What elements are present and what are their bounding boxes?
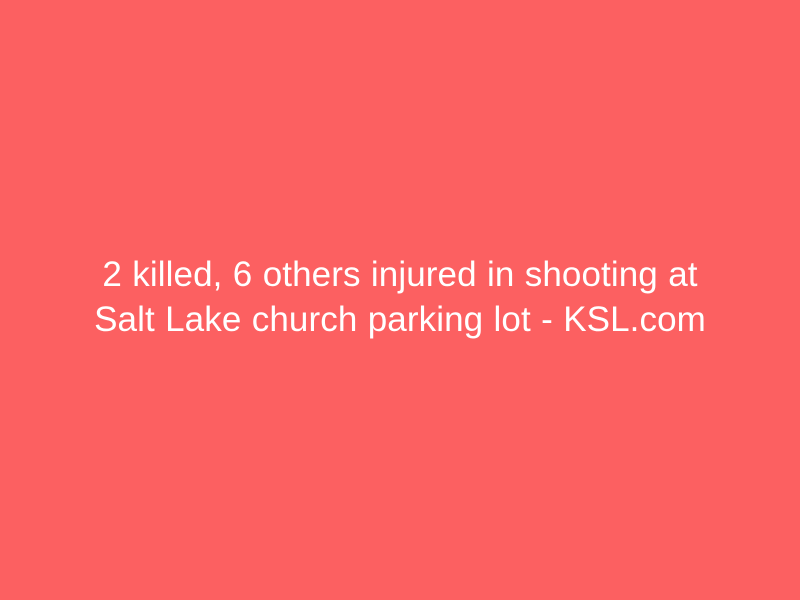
- headline-card: 2 killed, 6 others injured in shooting a…: [0, 0, 800, 600]
- headline-body: 2 killed, 6 others injured in shooting a…: [75, 252, 725, 342]
- headline-title: 2 killed, 6 others injured in shooting a…: [75, 252, 725, 342]
